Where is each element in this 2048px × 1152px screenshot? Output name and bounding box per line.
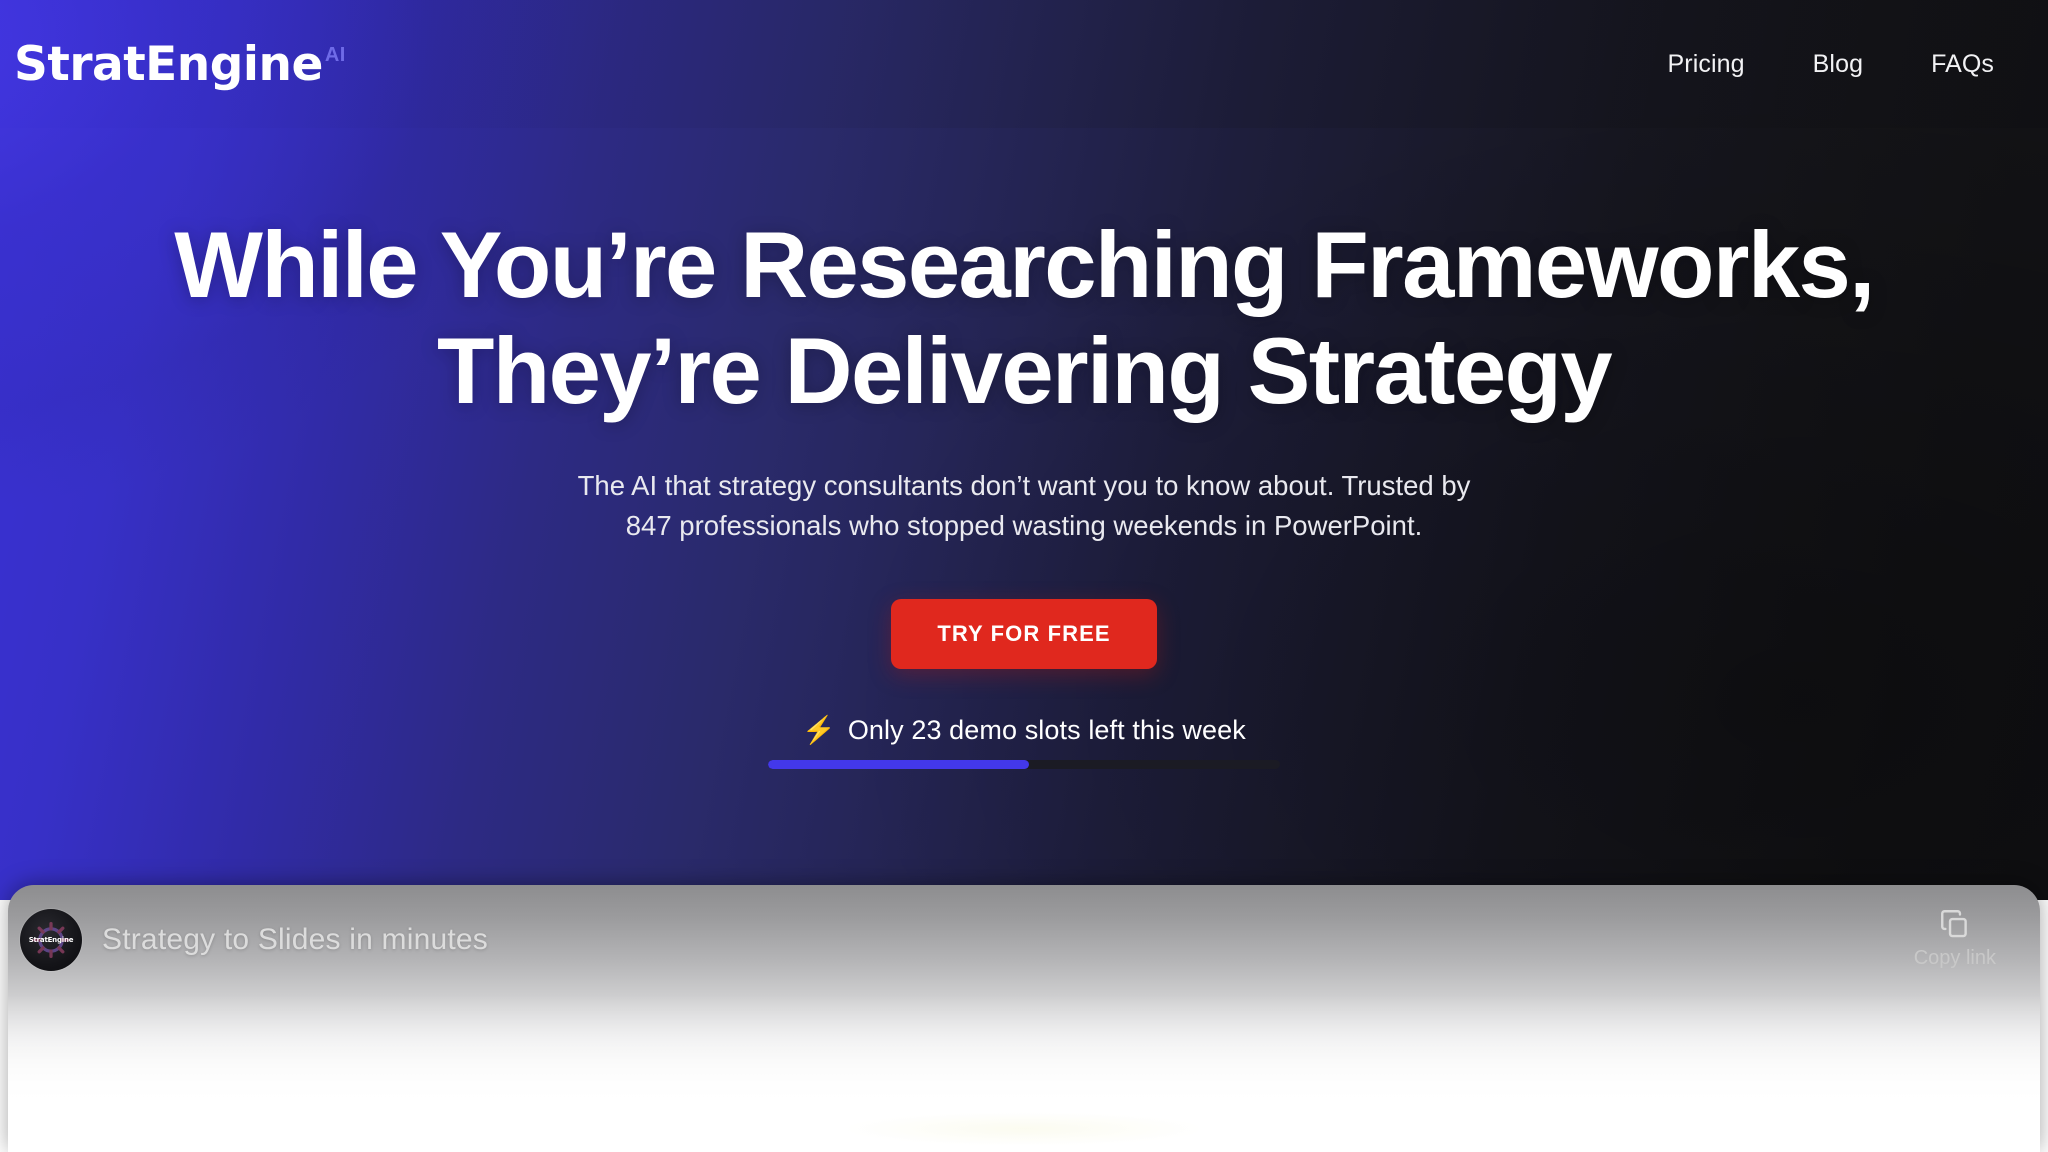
- nav-link-blog[interactable]: Blog: [1813, 50, 1863, 79]
- site-header: StratEngine AI Pricing Blog FAQs: [0, 0, 2048, 128]
- cta-container: TRY FOR FREE: [891, 599, 1156, 669]
- copy-link-button[interactable]: Copy link: [1914, 907, 1996, 974]
- main-nav: Pricing Blog FAQs: [1668, 50, 1994, 79]
- demo-slots-progress-bar: [768, 760, 1280, 769]
- hero-subheading: The AI that strategy consultants don’t w…: [564, 466, 1484, 545]
- copy-link-label: Copy link: [1914, 947, 1996, 970]
- avatar-label: StratEngine: [29, 936, 74, 944]
- scarcity-block: ⚡ Only 23 demo slots left this week: [768, 715, 1280, 769]
- video-title-group: StratEngine Strategy to Slides in minute…: [20, 909, 488, 971]
- avatar: StratEngine: [20, 909, 82, 971]
- scarcity-row: ⚡ Only 23 demo slots left this week: [802, 715, 1246, 746]
- video-fade-overlay: [8, 995, 2040, 1152]
- try-for-free-button[interactable]: TRY FOR FREE: [891, 599, 1156, 669]
- page-title: While You’re Researching Frameworks, The…: [144, 212, 1904, 424]
- brand-superscript-ai: AI: [325, 45, 346, 65]
- lightning-bolt-icon: ⚡: [802, 717, 836, 744]
- video-topbar: StratEngine Strategy to Slides in minute…: [8, 885, 2040, 995]
- demo-slots-progress-fill: [768, 760, 1029, 769]
- video-bottom-ghost: [844, 1112, 1204, 1146]
- video-player-panel[interactable]: StratEngine Strategy to Slides in minute…: [8, 885, 2040, 1152]
- scarcity-text: Only 23 demo slots left this week: [848, 715, 1246, 746]
- brand-name: StratEngine: [14, 41, 323, 88]
- nav-link-faqs[interactable]: FAQs: [1931, 50, 1994, 79]
- page-root: StratEngine AI Pricing Blog FAQs While Y…: [0, 0, 2048, 1152]
- brand-logo[interactable]: StratEngine AI: [14, 41, 346, 88]
- video-title: Strategy to Slides in minutes: [102, 923, 488, 957]
- nav-link-pricing[interactable]: Pricing: [1668, 50, 1745, 79]
- copy-icon: [1938, 907, 1972, 941]
- headline-line-1: While You’re Researching Frameworks,: [174, 212, 1873, 317]
- headline-line-2: They’re Delivering Strategy: [437, 318, 1611, 423]
